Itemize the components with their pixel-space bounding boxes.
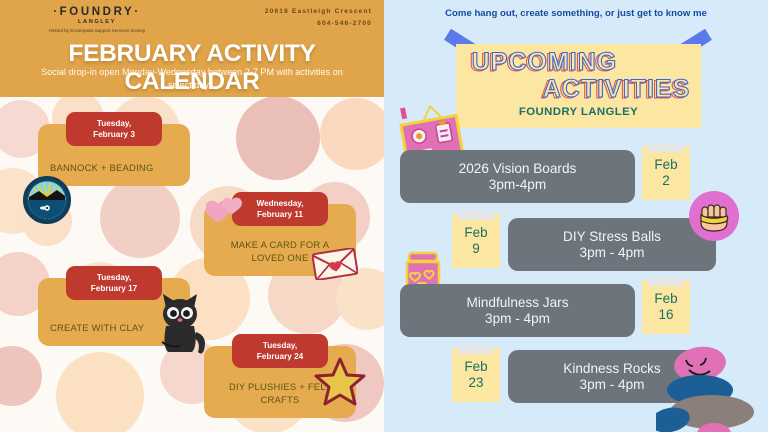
note-month: Feb (452, 225, 500, 241)
metis-society-logo (23, 176, 71, 224)
activity-pill: Mindfulness Jars 3pm - 4pm (400, 284, 635, 337)
event-date-chip: Wednesday, February 11 (232, 192, 328, 226)
event-day: Tuesday, (250, 340, 310, 351)
note-tape (458, 345, 494, 354)
brand-location: LANGLEY (32, 19, 162, 25)
address-line: 20616 Eastleigh Crescent (265, 6, 372, 18)
event-day: Wednesday, (250, 198, 310, 209)
brand-name: ·FOUNDRY· (32, 6, 162, 18)
note-tape (648, 143, 684, 152)
event-day: Tuesday, (84, 118, 144, 129)
date-note: Feb 23 (452, 348, 500, 402)
calendar-subtitle: Social drop-in open Monday-Wednesday bet… (30, 66, 354, 92)
phone-line: 604-546-2700 (265, 18, 372, 30)
event-card: Tuesday, February 3 BANNOCK + BEADING (38, 124, 190, 186)
activity-time: 3pm - 4pm (400, 311, 635, 327)
event-date-chip: Tuesday, February 17 (66, 266, 162, 300)
note-tape (648, 277, 684, 286)
title-subtitle: FOUNDRY LANGLEY (456, 106, 701, 118)
metis-logo-art (25, 178, 69, 222)
poster-pair-screenshot: ·FOUNDRY· LANGLEY Hosted by Encompass Su… (0, 0, 768, 432)
poster-header-band: ·FOUNDRY· LANGLEY Hosted by Encompass Su… (0, 0, 384, 97)
event-date: February 24 (250, 351, 310, 362)
star-icon (314, 356, 366, 408)
note-tape (458, 211, 494, 220)
activity-time: 3pm-4pm (400, 177, 635, 193)
note-month: Feb (452, 359, 500, 375)
brand-host-line: Hosted by Encompass Support Services Soc… (32, 28, 162, 33)
note-day: 23 (452, 375, 500, 391)
hearts-icon (206, 196, 246, 232)
event-activity: BANNOCK + BEADING (50, 161, 178, 174)
contact-block: 20616 Eastleigh Crescent 604-546-2700 (265, 6, 372, 30)
foundry-brand-block: ·FOUNDRY· LANGLEY Hosted by Encompass Su… (32, 6, 162, 33)
note-month: Feb (642, 157, 690, 173)
february-activity-calendar-poster: ·FOUNDRY· LANGLEY Hosted by Encompass Su… (0, 0, 384, 432)
note-day: 9 (452, 241, 500, 257)
activity-name: 2026 Vision Boards (400, 161, 635, 177)
event-date: February 17 (84, 283, 144, 294)
activity-pill: DIY Stress Balls 3pm - 4pm (508, 218, 716, 271)
date-note: Feb 2 (642, 146, 690, 200)
raised-fist-icon (688, 190, 740, 242)
activity-name: Mindfulness Jars (400, 295, 635, 311)
note-month: Feb (642, 291, 690, 307)
love-letter-icon (312, 248, 358, 280)
title-line1: UPCOMING (422, 48, 667, 77)
black-cat-icon (152, 286, 208, 356)
note-day: 2 (642, 173, 690, 189)
event-date: February 3 (84, 129, 144, 140)
activity-time: 3pm - 4pm (508, 245, 716, 261)
upcoming-activities-poster: Come hang out, create something, or just… (384, 0, 768, 432)
date-note: Feb 16 (642, 280, 690, 334)
painted-rocks-icon (656, 342, 768, 432)
activity-pill: 2026 Vision Boards 3pm-4pm (400, 150, 635, 203)
activity-name: DIY Stress Balls (508, 229, 716, 245)
event-day: Tuesday, (84, 272, 144, 283)
title-line2: ACTIVITIES (494, 75, 739, 104)
note-day: 16 (642, 307, 690, 323)
title-banner: UPCOMING UPCOMING ACTIVITIES ACTIVITIES … (456, 44, 701, 128)
poster-tagline: Come hang out, create something, or just… (392, 8, 760, 19)
event-date: February 11 (250, 209, 310, 220)
date-note: Feb 9 (452, 214, 500, 268)
event-date-chip: Tuesday, February 3 (66, 112, 162, 146)
